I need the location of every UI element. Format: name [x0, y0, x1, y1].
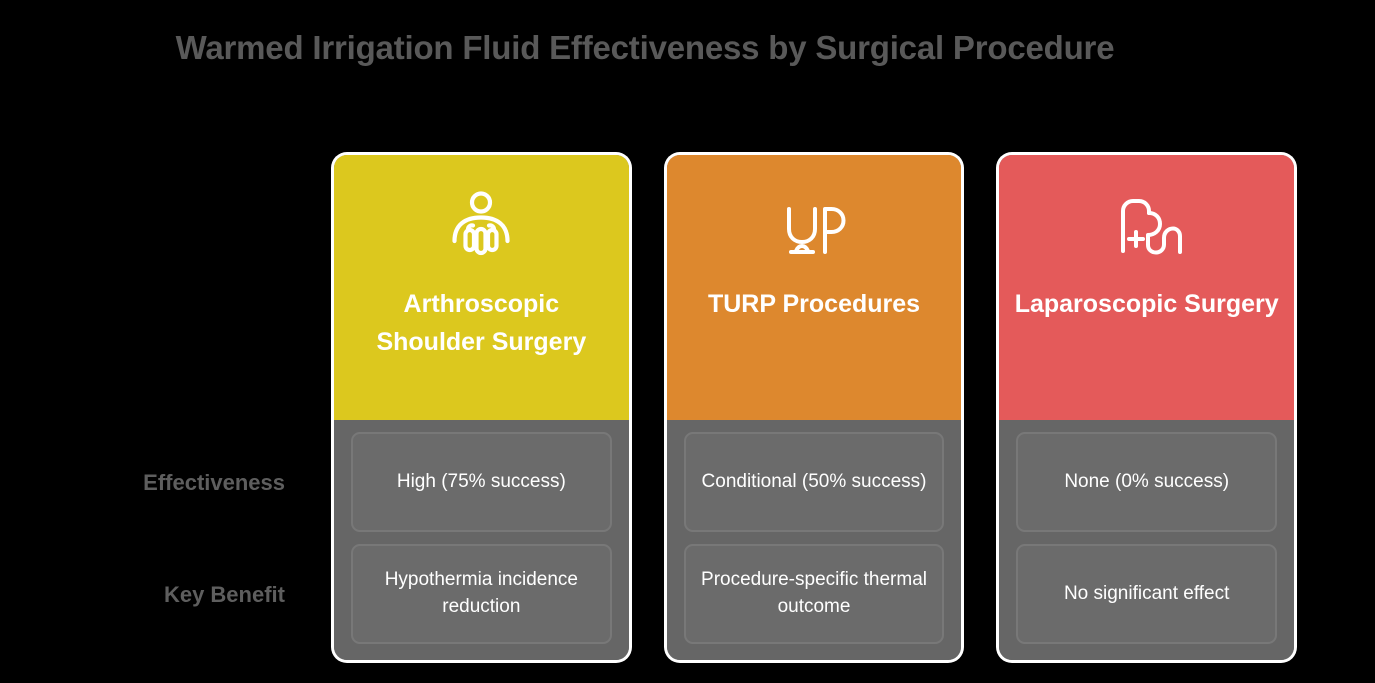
up-arrow-letters-icon: [778, 189, 850, 261]
card-header: Arthroscopic Shoulder Surgery: [334, 155, 629, 420]
card-title: Laparoscopic Surgery: [1001, 285, 1293, 323]
stomach-organ-plus-icon: [1111, 189, 1183, 261]
cell-key-benefit[interactable]: No significant effect: [1016, 544, 1277, 644]
cell-key-benefit[interactable]: Hypothermia incidence reduction: [351, 544, 612, 644]
card-turp-procedures[interactable]: TURP Procedures Conditional (50% success…: [667, 155, 962, 660]
row-label-effectiveness: Effectiveness: [0, 470, 285, 496]
card-arthroscopic-shoulder-surgery[interactable]: Arthroscopic Shoulder Surgery High (75% …: [334, 155, 629, 660]
cell-effectiveness[interactable]: High (75% success): [351, 432, 612, 532]
card-body: None (0% success) No significant effect: [999, 420, 1294, 660]
page-title: Warmed Irrigation Fluid Effectiveness by…: [170, 26, 1120, 71]
card-title: Arthroscopic Shoulder Surgery: [334, 285, 629, 361]
infographic-canvas: Warmed Irrigation Fluid Effectiveness by…: [0, 0, 1375, 683]
card-body: High (75% success) Hypothermia incidence…: [334, 420, 629, 660]
card-body: Conditional (50% success) Procedure-spec…: [667, 420, 962, 660]
shoulder-body-icon: [445, 189, 517, 261]
card-header: Laparoscopic Surgery: [999, 155, 1294, 420]
cell-key-benefit[interactable]: Procedure-specific thermal outcome: [684, 544, 945, 644]
cell-effectiveness[interactable]: None (0% success): [1016, 432, 1277, 532]
cell-effectiveness[interactable]: Conditional (50% success): [684, 432, 945, 532]
card-header: TURP Procedures: [667, 155, 962, 420]
comparison-cards: Arthroscopic Shoulder Surgery High (75% …: [334, 155, 1294, 660]
card-laparoscopic-surgery[interactable]: Laparoscopic Surgery None (0% success) N…: [999, 155, 1294, 660]
row-label-key-benefit: Key Benefit: [0, 582, 285, 608]
card-title: TURP Procedures: [694, 285, 934, 323]
